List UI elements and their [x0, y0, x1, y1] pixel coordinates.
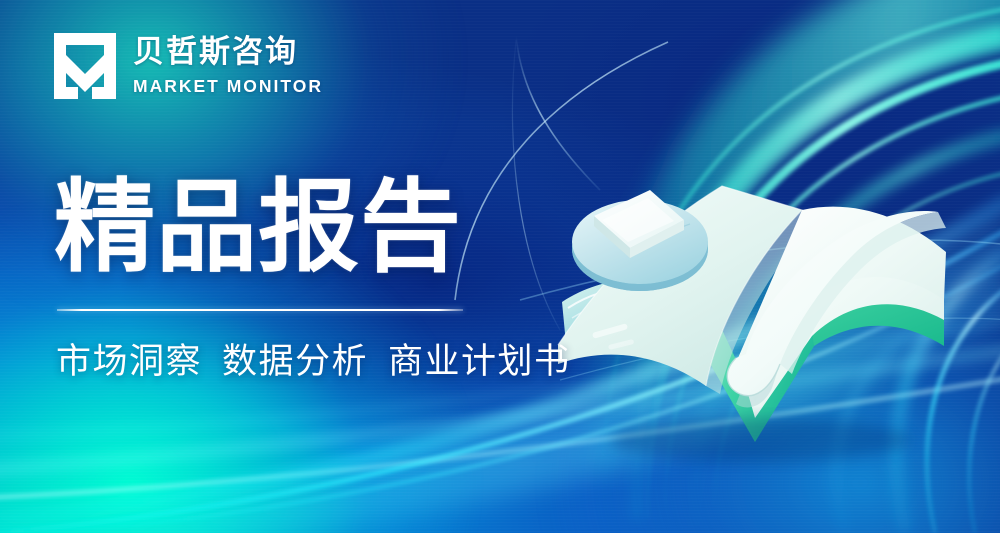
subtitle-segment-business-plan: 商业计划书 [388, 342, 571, 381]
title-divider [57, 309, 463, 311]
subtitle-segment-data-analysis: 数据分析 [222, 342, 368, 381]
brand-logo[interactable]: 贝哲斯咨询 MARKET MONITOR [54, 33, 323, 99]
subtitle: 市场洞察数据分析商业计划书 [56, 333, 571, 384]
open-book-illustration [540, 150, 960, 470]
promo-banner: 贝哲斯咨询 MARKET MONITOR 精品报告 市场洞察数据分析商业计划书 [0, 0, 1000, 533]
brand-name-en: MARKET MONITOR [133, 76, 323, 97]
brand-logo-text: 贝哲斯咨询 MARKET MONITOR [133, 35, 323, 96]
brand-name-cn: 贝哲斯咨询 [133, 35, 323, 68]
subtitle-segment-market-insight: 市场洞察 [56, 342, 202, 381]
page-title: 精品报告 [54, 175, 462, 282]
market-monitor-m-logo-icon [54, 33, 116, 99]
